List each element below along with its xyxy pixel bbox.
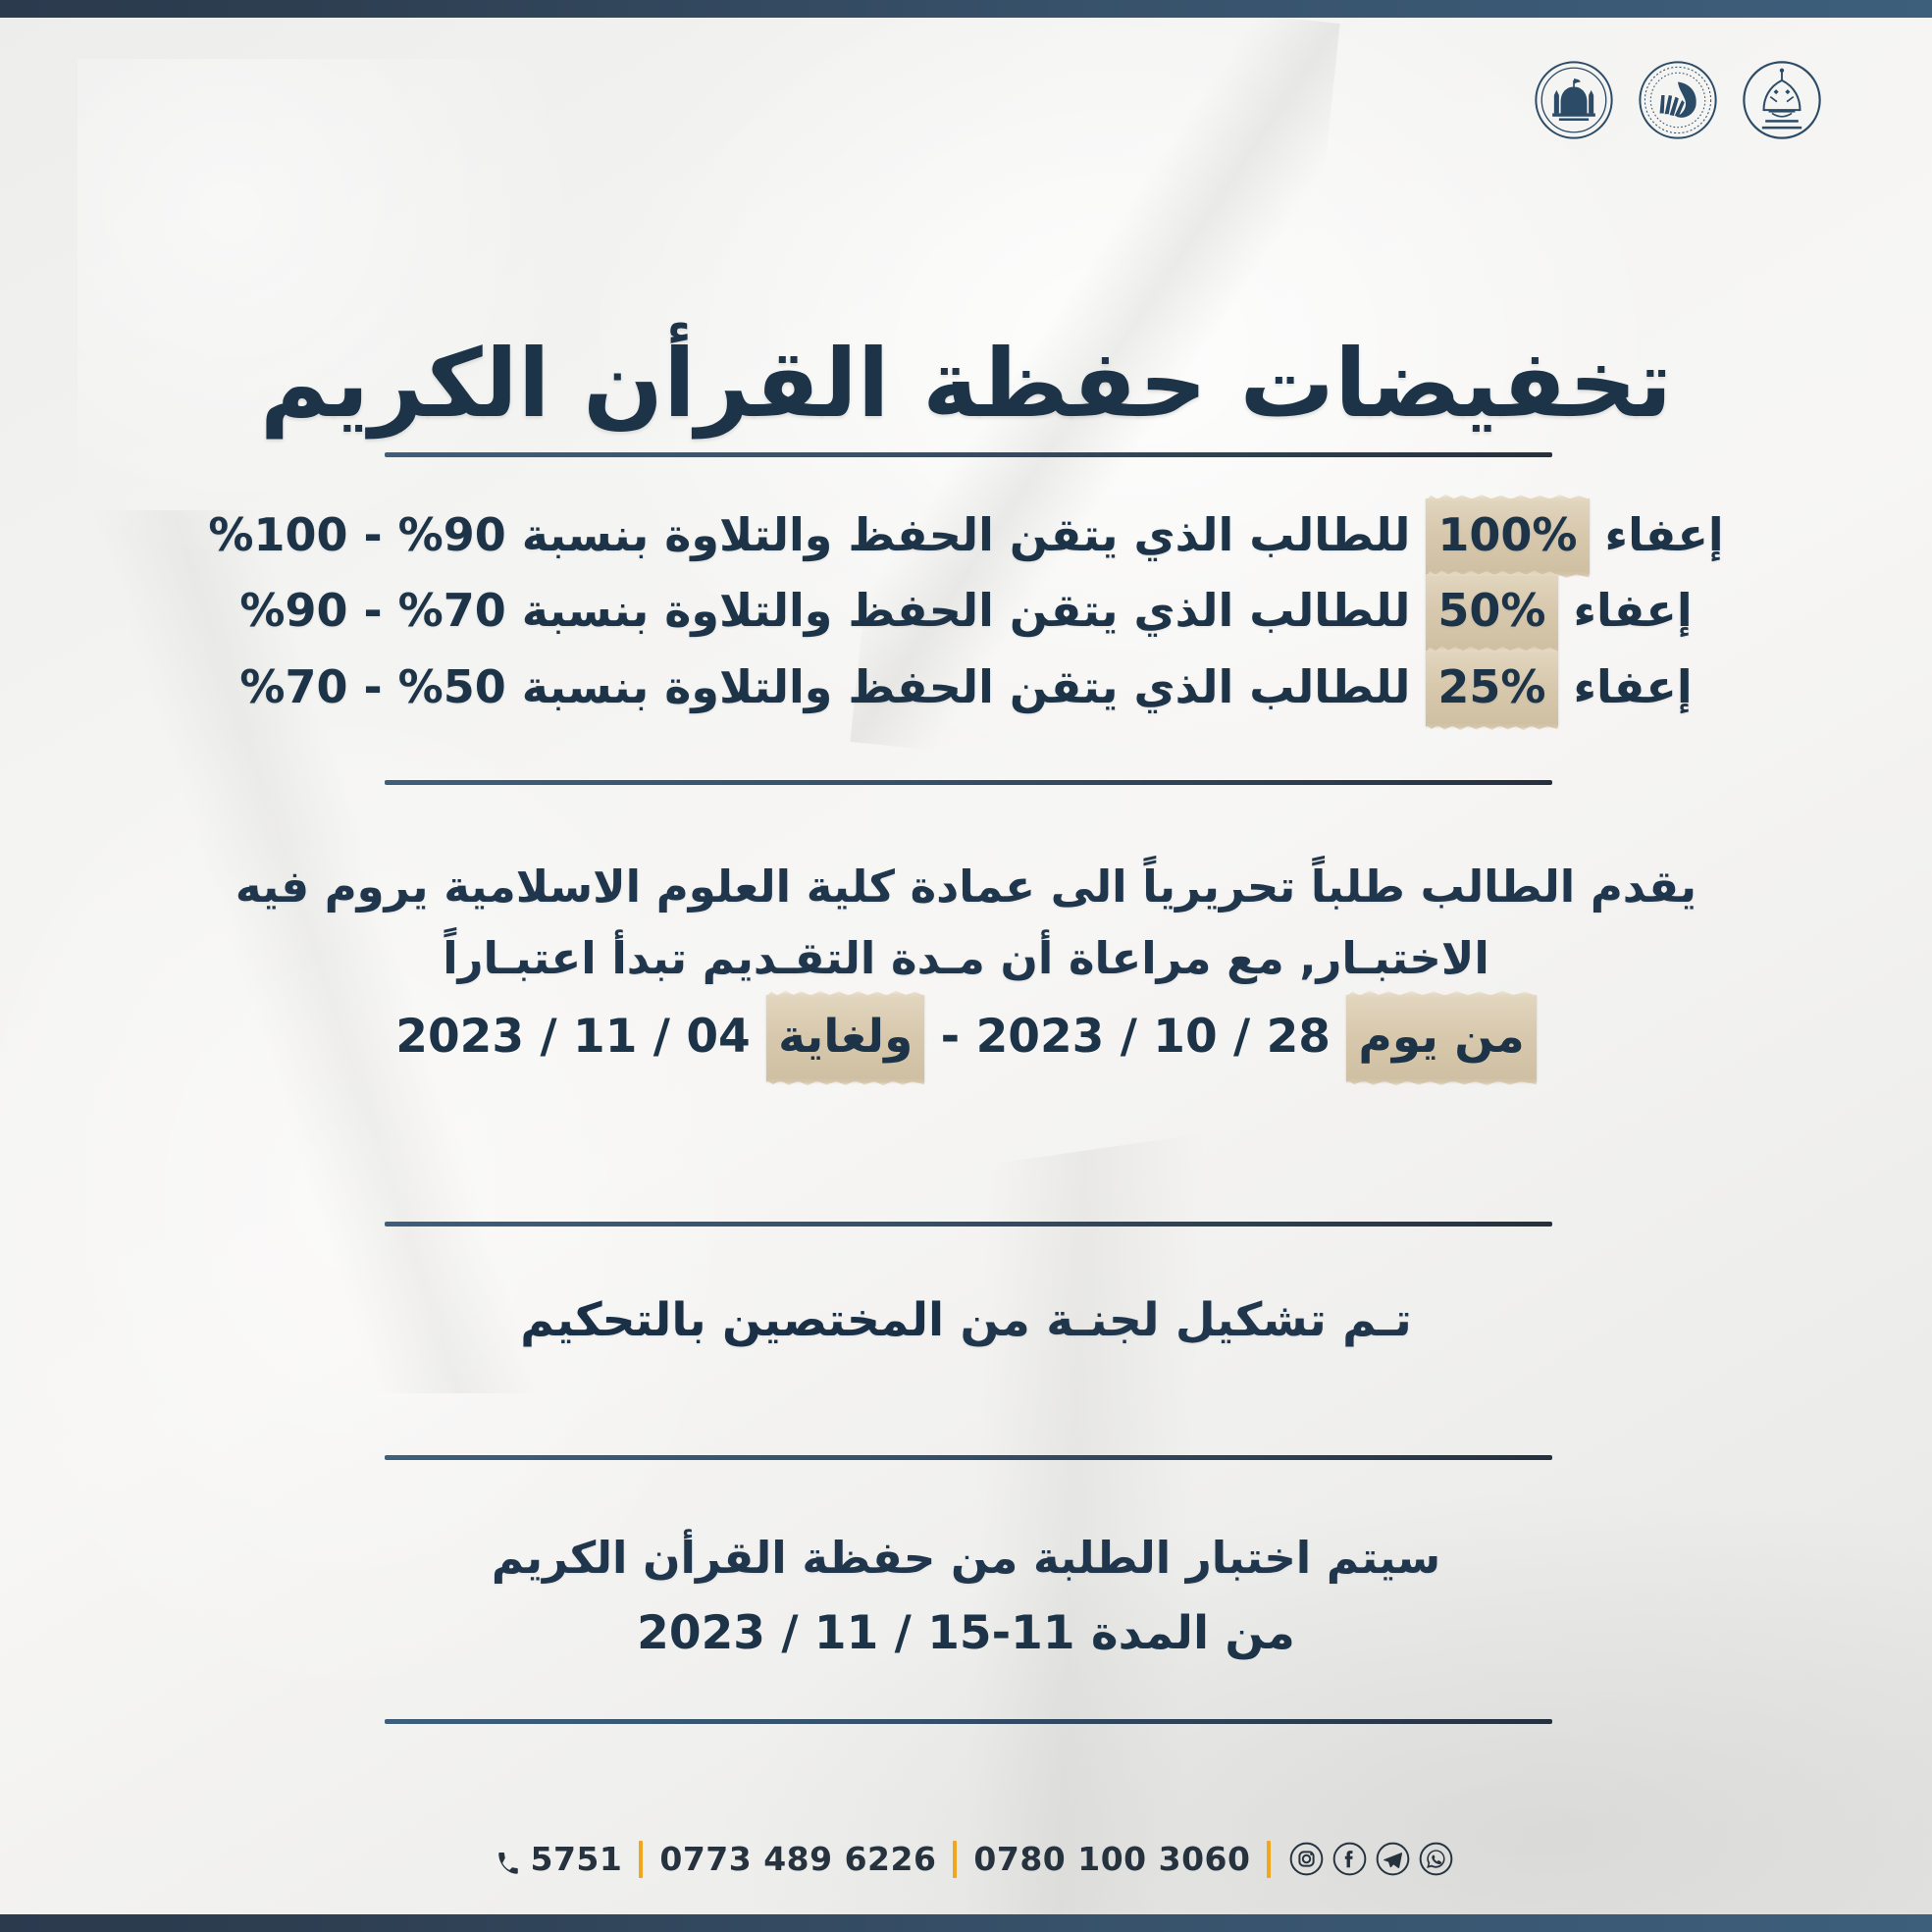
rule-prefix: إعفاء <box>1574 584 1693 637</box>
divider-under-application <box>385 1222 1552 1227</box>
rule-suffix: للطالب الذي يتقن الحفظ والتلاوة بنسبة 50… <box>239 660 1410 713</box>
instagram-icon[interactable] <box>1289 1842 1324 1876</box>
rule-percent-badge: 50% <box>1426 574 1557 650</box>
divider-under-rules <box>385 780 1552 785</box>
committee-statement: تـم تشكيل لجنـة من المختصين بالتحكيم <box>0 1293 1932 1347</box>
mobile-number-2-text: 0780 100 3060 <box>973 1840 1250 1878</box>
discount-rules-list: إعفاء 100% للطالب الذي يتقن الحفظ والتلا… <box>0 498 1932 726</box>
date-from-value: 28 / 10 / 2023 <box>976 1010 1331 1064</box>
discount-rule-item: إعفاء 25% للطالب الذي يتقن الحفظ والتلاو… <box>0 651 1932 726</box>
date-range-dash: - <box>941 1010 961 1064</box>
poster-content: تخفيضات حفظة القرأن الكريم إعفاء 100% لل… <box>0 0 1932 1932</box>
mobile-number-2-item[interactable]: 0780 100 3060 <box>957 1840 1267 1878</box>
social-links <box>1271 1842 1453 1876</box>
short-number-item[interactable]: 5751 <box>479 1840 640 1878</box>
discount-rule-item: إعفاء 100% للطالب الذي يتقن الحفظ والتلا… <box>0 498 1932 574</box>
telegram-icon[interactable] <box>1376 1842 1410 1876</box>
date-to-label: ولغاية <box>766 995 924 1081</box>
rule-percent-badge: 100% <box>1426 498 1589 574</box>
divider-above-footer <box>385 1719 1552 1724</box>
divider-under-title <box>385 452 1552 457</box>
rule-prefix: إعفاء <box>1574 660 1693 713</box>
facebook-icon[interactable] <box>1332 1842 1367 1876</box>
application-instructions: يقدم الطالب طلباً تحريرياً الى عمادة كلي… <box>0 852 1932 1081</box>
contact-footer: 5751 0773 489 6226 0780 100 3060 <box>0 1840 1932 1878</box>
committee-text-bold: المختصين بالتحكيم <box>520 1293 944 1347</box>
rule-percent-badge: 25% <box>1426 651 1557 726</box>
poster-canvas: تخفيضات حفظة القرأن الكريم إعفاء 100% لل… <box>0 0 1932 1932</box>
rule-suffix: للطالب الذي يتقن الحفظ والتلاوة بنسبة 90… <box>208 508 1410 561</box>
rule-prefix: إعفاء <box>1605 508 1724 561</box>
rule-suffix: للطالب الذي يتقن الحفظ والتلاوة بنسبة 70… <box>239 584 1410 637</box>
discount-rule-item: إعفاء 50% للطالب الذي يتقن الحفظ والتلاو… <box>0 574 1932 650</box>
application-line-1: يقدم الطالب طلباً تحريرياً الى عمادة كلي… <box>0 852 1932 923</box>
exam-line-2: من المدة 11-15 / 11 / 2023 <box>0 1594 1932 1673</box>
committee-text-normal: تـم تشكيل لجنـة من <box>944 1293 1412 1347</box>
application-line-2: الاختبـار, مع مراعاة أن مـدة التقـديم تب… <box>0 923 1932 995</box>
divider-under-committee <box>385 1455 1552 1460</box>
mobile-number-1-item[interactable]: 0773 489 6226 <box>643 1840 953 1878</box>
whatsapp-icon[interactable] <box>1419 1842 1453 1876</box>
mobile-number-1-text: 0773 489 6226 <box>659 1840 936 1878</box>
short-number-text: 5751 <box>531 1840 623 1878</box>
phone-icon <box>496 1847 521 1872</box>
page-title: تخفيضات حفظة القرأن الكريم <box>0 334 1932 436</box>
exam-line-1: سيتم اختبار الطلبة من حفظة القرأن الكريم <box>0 1523 1932 1594</box>
date-to-value: 04 / 11 / 2023 <box>395 1010 750 1064</box>
exam-schedule: سيتم اختبار الطلبة من حفظة القرأن الكريم… <box>0 1523 1932 1673</box>
application-date-range: من يوم 28 / 10 / 2023 - ولغاية 04 / 11 /… <box>0 995 1932 1081</box>
date-from-label: من يوم <box>1346 995 1536 1081</box>
